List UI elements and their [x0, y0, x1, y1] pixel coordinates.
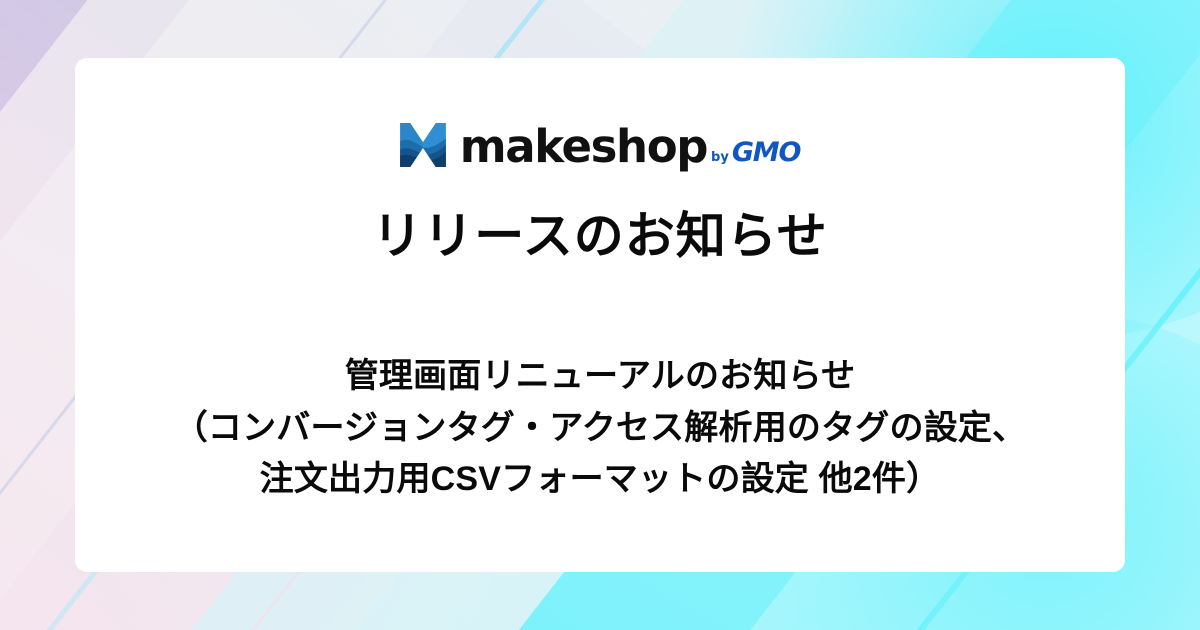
content-card: makeshop by GMO リリースのお知らせ 管理画面リニューアルのお知ら…: [75, 58, 1125, 572]
subtitle-block: 管理画面リニューアルのお知らせ （コンバージョンタグ・アクセス解析用のタグの設定…: [174, 351, 1027, 506]
subtitle-line-3: 注文出力用CSVフォーマットの設定 他2件）: [174, 454, 1027, 506]
subtitle-line-1: 管理画面リニューアルのお知らせ: [174, 351, 1027, 403]
gmo-wordmark: GMO: [732, 139, 800, 166]
logo-by-label: by: [711, 151, 729, 164]
subtitle-line-2: （コンバージョンタグ・アクセス解析用のタグの設定、: [174, 403, 1027, 455]
makeshop-m-mark-icon: [400, 123, 446, 167]
makeshop-logo: makeshop by GMO: [400, 117, 800, 169]
makeshop-wordmark: makeshop: [460, 124, 707, 169]
og-image-canvas: makeshop by GMO リリースのお知らせ 管理画面リニューアルのお知ら…: [0, 0, 1200, 630]
page-title: リリースのお知らせ: [372, 208, 828, 266]
